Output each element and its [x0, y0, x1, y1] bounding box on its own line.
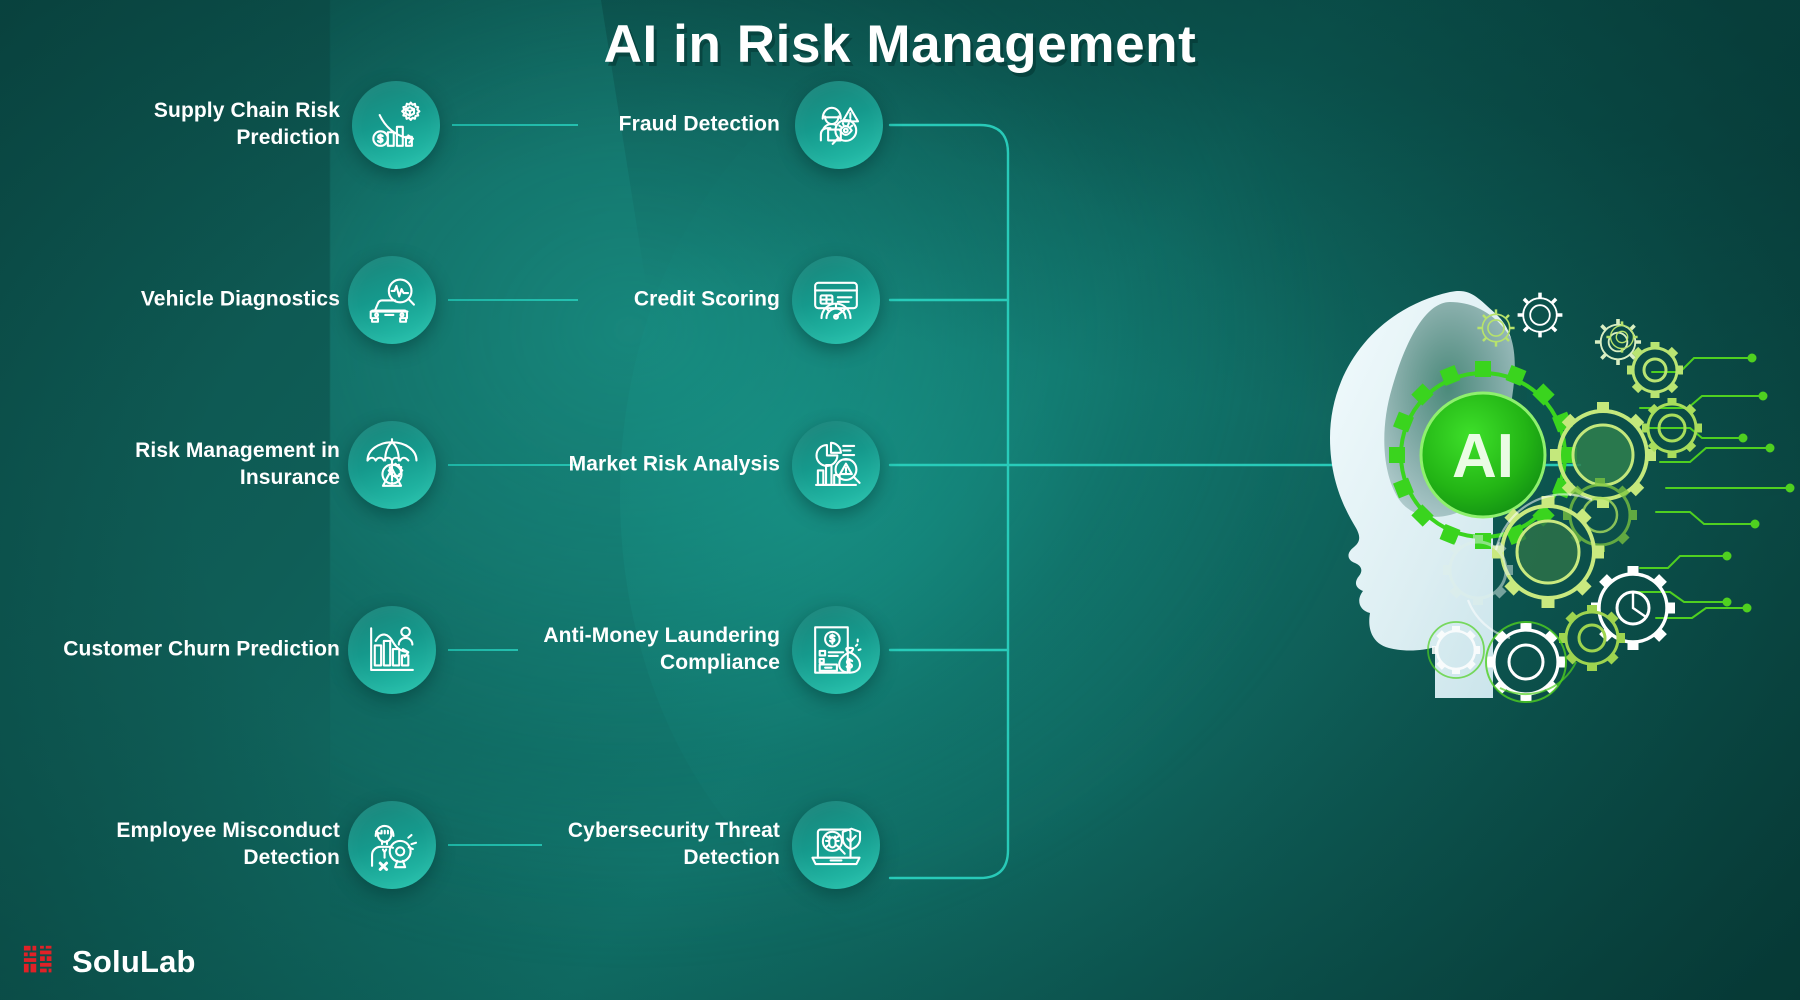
row-3-mid-icon-bubble[interactable] — [792, 421, 880, 509]
infographic-canvas: AI in Risk Management Supply Chain Risk … — [0, 0, 1800, 1000]
declining-bars-person-icon — [363, 621, 421, 679]
row-5-left-label: Employee Misconduct Detection — [40, 818, 340, 872]
row-1: Supply Chain Risk Prediction Fraud Detec… — [0, 70, 1120, 180]
row-5: Employee Misconduct Detection Cybersecur… — [0, 790, 1120, 900]
row-2-mid-icon-bubble[interactable] — [792, 256, 880, 344]
row-2: Vehicle Diagnostics Credit Scoring — [0, 245, 1120, 355]
supply-chain-gear-chart-icon — [367, 96, 425, 154]
laptop-bug-shield-icon — [807, 816, 865, 874]
row-2-left-icon-bubble[interactable] — [348, 256, 436, 344]
row-3-mid-label: Market Risk Analysis — [540, 452, 780, 479]
row-3-left-icon-bubble[interactable] — [348, 421, 436, 509]
employee-x-magnifier-icon — [363, 816, 421, 874]
credit-card-gauge-icon — [807, 271, 865, 329]
solulab-logo-mark — [22, 942, 60, 980]
car-pulse-magnifier-icon — [363, 271, 421, 329]
ai-badge-text: AI — [1452, 422, 1514, 491]
row-5-left-icon-bubble[interactable] — [348, 801, 436, 889]
gear-small-top — [1627, 342, 1683, 398]
umbrella-gear-icon — [363, 436, 421, 494]
chart-warning-magnifier-icon — [807, 436, 865, 494]
row-1-mid-icon-bubble[interactable] — [795, 81, 883, 169]
row-4-mid-icon-bubble[interactable] — [792, 606, 880, 694]
row-1-left-label: Supply Chain Risk Prediction — [60, 98, 340, 152]
row-4-mid-label: Anti-Money Laundering Compliance — [480, 623, 780, 677]
row-5-mid-icon-bubble[interactable] — [792, 801, 880, 889]
row-1-left-icon-bubble[interactable] — [352, 81, 440, 169]
row-3: Risk Management in Insurance Market Risk… — [0, 410, 1120, 520]
row-1-mid-label: Fraud Detection — [540, 112, 780, 139]
page-title: AI in Risk Management — [0, 14, 1800, 75]
row-3-left-label: Risk Management in Insurance — [60, 438, 340, 492]
row-4-left-icon-bubble[interactable] — [348, 606, 436, 694]
brand-logo[interactable]: SoluLab — [22, 942, 196, 980]
row-4: Customer Churn Prediction Anti-Money Lau… — [0, 595, 1120, 705]
ai-head-graphic: AI — [1300, 250, 1800, 730]
document-money-bag-icon — [807, 621, 865, 679]
brand-name: SoluLab — [72, 946, 196, 977]
fraud-person-magnifier-icon — [810, 96, 868, 154]
row-2-left-label: Vehicle Diagnostics — [60, 287, 340, 314]
row-4-left-label: Customer Churn Prediction — [60, 637, 340, 664]
row-5-mid-label: Cybersecurity Threat Detection — [510, 818, 780, 872]
row-2-mid-label: Credit Scoring — [540, 287, 780, 314]
